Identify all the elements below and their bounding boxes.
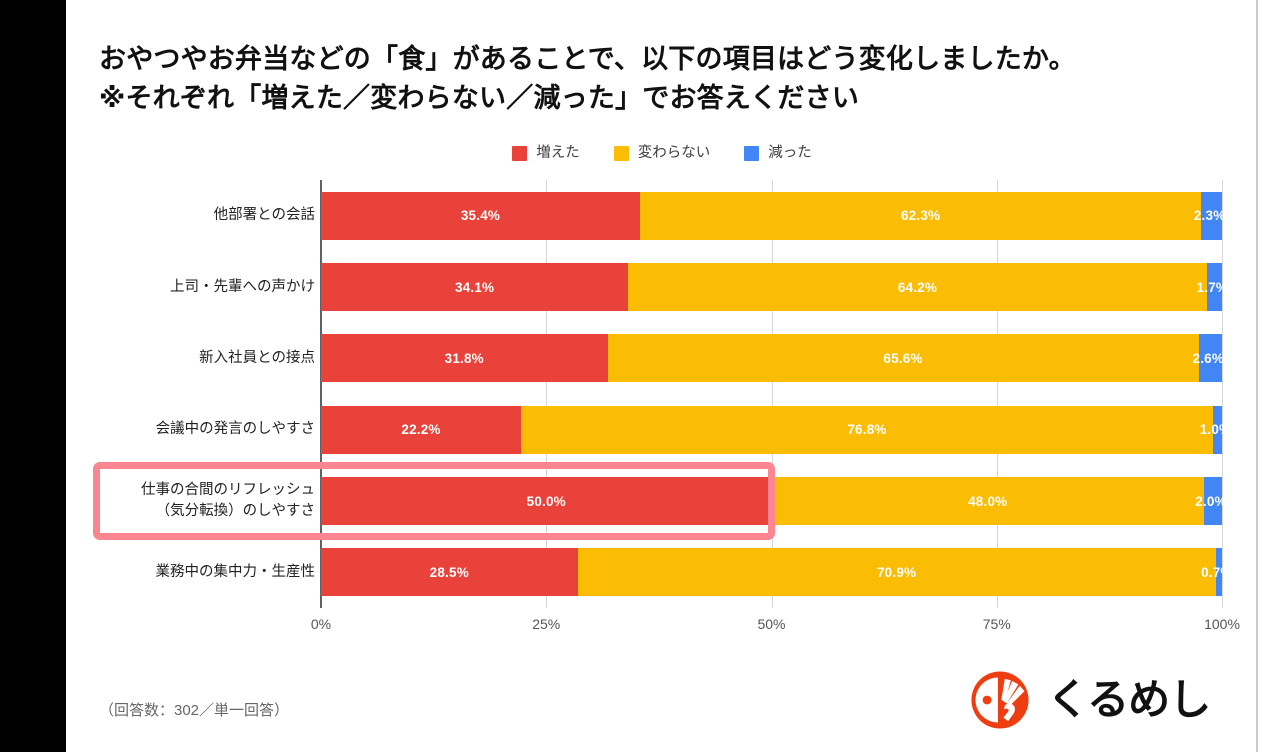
bar-segment-decreased[interactable]: 1.0% xyxy=(1213,406,1222,454)
category-label: 新入社員との接点 xyxy=(85,348,315,369)
bar-value-label: 0.7% xyxy=(1201,565,1233,580)
category-label: 他部署との会話 xyxy=(85,205,315,226)
bar-segment-unchanged[interactable]: 76.8% xyxy=(521,406,1213,454)
x-axis-tick-label: 25% xyxy=(532,616,560,632)
legend-item-decreased[interactable]: 減った xyxy=(744,146,812,161)
bar-value-label: 2.0% xyxy=(1195,494,1227,509)
bar-value-label: 31.8% xyxy=(445,351,484,366)
bar-value-label: 70.9% xyxy=(877,565,916,580)
legend-swatch-icon xyxy=(744,146,759,161)
bar-segment-increased[interactable]: 22.2% xyxy=(321,406,521,454)
x-axis-tick-label: 75% xyxy=(983,616,1011,632)
bar-value-label: 64.2% xyxy=(898,280,937,295)
chart-bar-row[interactable]: 35.4%62.3%2.3% xyxy=(321,192,1222,240)
bar-segment-unchanged[interactable]: 48.0% xyxy=(772,477,1204,525)
bar-value-label: 62.3% xyxy=(901,208,940,223)
category-label: 会議中の発言のしやすさ xyxy=(85,419,315,440)
gridline xyxy=(997,180,998,608)
bar-segment-increased[interactable]: 34.1% xyxy=(321,263,628,311)
bar-segment-decreased[interactable]: 0.7% xyxy=(1216,548,1222,596)
legend-label: 増えた xyxy=(536,146,580,161)
legend-label: 変わらない xyxy=(638,146,711,161)
kurumeshi-logo-mark-icon xyxy=(966,666,1034,734)
legend-swatch-icon xyxy=(614,146,629,161)
bar-segment-increased[interactable]: 35.4% xyxy=(321,192,640,240)
legend-label: 減った xyxy=(768,146,812,161)
bar-segment-decreased[interactable]: 2.6% xyxy=(1199,334,1222,382)
right-gutter xyxy=(1258,0,1280,752)
y-axis-line xyxy=(320,180,322,608)
bar-segment-unchanged[interactable]: 65.6% xyxy=(608,334,1199,382)
bar-value-label: 48.0% xyxy=(968,494,1007,509)
bar-segment-increased[interactable]: 28.5% xyxy=(321,548,578,596)
brand-logo: くるめし xyxy=(966,666,1210,734)
bar-value-label: 35.4% xyxy=(461,208,500,223)
bar-segment-increased[interactable]: 50.0% xyxy=(321,477,772,525)
bar-segment-increased[interactable]: 31.8% xyxy=(321,334,608,382)
slide-canvas: おやつやお弁当などの「食」があることで、以下の項目はどう変化しましたか。 ※それ… xyxy=(66,0,1258,752)
chart-bar-row[interactable]: 50.0%48.0%2.0% xyxy=(321,477,1222,525)
bar-segment-unchanged[interactable]: 64.2% xyxy=(628,263,1206,311)
x-axis-tick-label: 0% xyxy=(311,616,331,632)
chart-bar-row[interactable]: 28.5%70.9%0.7% xyxy=(321,548,1222,596)
chart-footnote: （回答数：302／単一回答） xyxy=(99,699,289,720)
chart-legend: 増えた変わらない減った xyxy=(66,146,1258,161)
screen: おやつやお弁当などの「食」があることで、以下の項目はどう変化しましたか。 ※それ… xyxy=(0,0,1280,752)
chart-bar-row[interactable]: 22.2%76.8%1.0% xyxy=(321,406,1222,454)
bar-value-label: 28.5% xyxy=(430,565,469,580)
legend-item-unchanged[interactable]: 変わらない xyxy=(614,146,711,161)
x-axis-tick-label: 100% xyxy=(1204,616,1240,632)
bar-segment-unchanged[interactable]: 70.9% xyxy=(578,548,1216,596)
bar-value-label: 22.2% xyxy=(401,422,440,437)
gridline xyxy=(1222,180,1223,608)
chart-plot-area: 0%25%50%75%100%35.4%62.3%2.3%34.1%64.2%1… xyxy=(321,180,1222,608)
bar-segment-decreased[interactable]: 1.7% xyxy=(1207,263,1222,311)
category-label: 上司・先輩への声かけ xyxy=(85,277,315,298)
bar-value-label: 50.0% xyxy=(527,494,566,509)
gridline xyxy=(772,180,773,608)
chart-bar-row[interactable]: 34.1%64.2%1.7% xyxy=(321,263,1222,311)
bar-value-label: 65.6% xyxy=(883,351,922,366)
x-axis-tick-label: 50% xyxy=(757,616,785,632)
bar-value-label: 2.6% xyxy=(1192,351,1224,366)
bar-segment-decreased[interactable]: 2.3% xyxy=(1201,192,1222,240)
legend-item-increased[interactable]: 増えた xyxy=(512,146,580,161)
category-label: 業務中の集中力・生産性 xyxy=(85,562,315,583)
brand-logo-text: くるめし xyxy=(1047,679,1210,721)
chart-bar-row[interactable]: 31.8%65.6%2.6% xyxy=(321,334,1222,382)
bar-value-label: 34.1% xyxy=(455,280,494,295)
bar-value-label: 1.0% xyxy=(1200,422,1232,437)
bar-value-label: 76.8% xyxy=(847,422,886,437)
category-label: 仕事の合間のリフレッシュ （気分転換）のしやすさ xyxy=(85,480,315,522)
gridline xyxy=(546,180,547,608)
category-axis-labels: 他部署との会話上司・先輩への声かけ新入社員との接点会議中の発言のしやすさ仕事の合… xyxy=(75,180,315,608)
bar-value-label: 1.7% xyxy=(1197,280,1229,295)
bar-value-label: 2.3% xyxy=(1194,208,1226,223)
bar-segment-unchanged[interactable]: 62.3% xyxy=(640,192,1201,240)
page-title: おやつやお弁当などの「食」があることで、以下の項目はどう変化しましたか。 ※それ… xyxy=(99,40,1219,118)
legend-swatch-icon xyxy=(512,146,527,161)
bar-segment-decreased[interactable]: 2.0% xyxy=(1204,477,1222,525)
